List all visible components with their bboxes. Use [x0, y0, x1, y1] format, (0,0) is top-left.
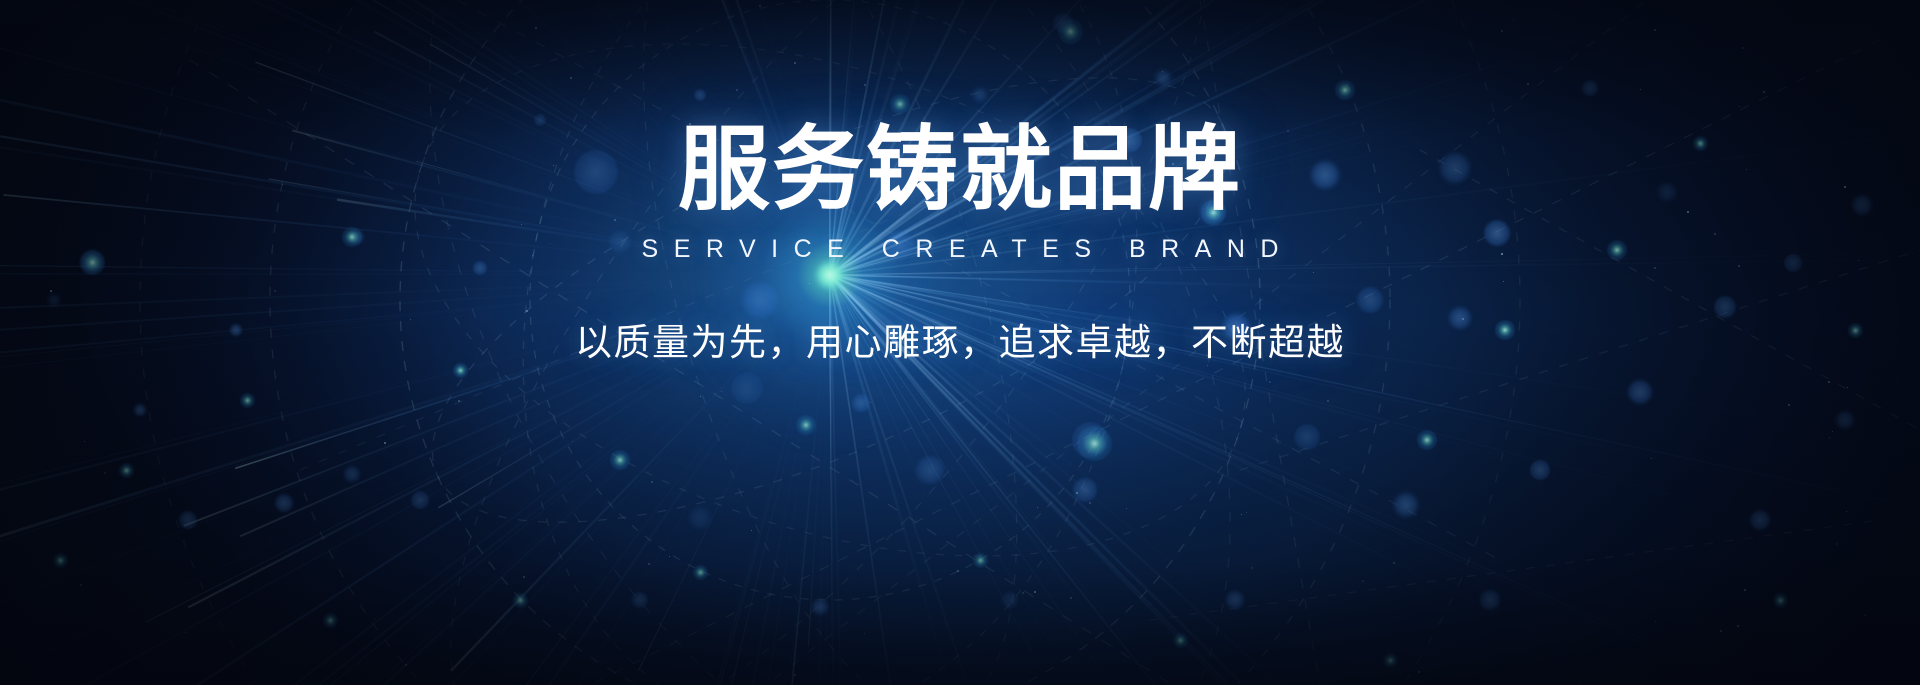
background-edge-shading [0, 0, 1920, 685]
hero-banner: 服务铸就品牌 SERVICE CREATES BRAND 以质量为先，用心雕琢，… [0, 0, 1920, 685]
